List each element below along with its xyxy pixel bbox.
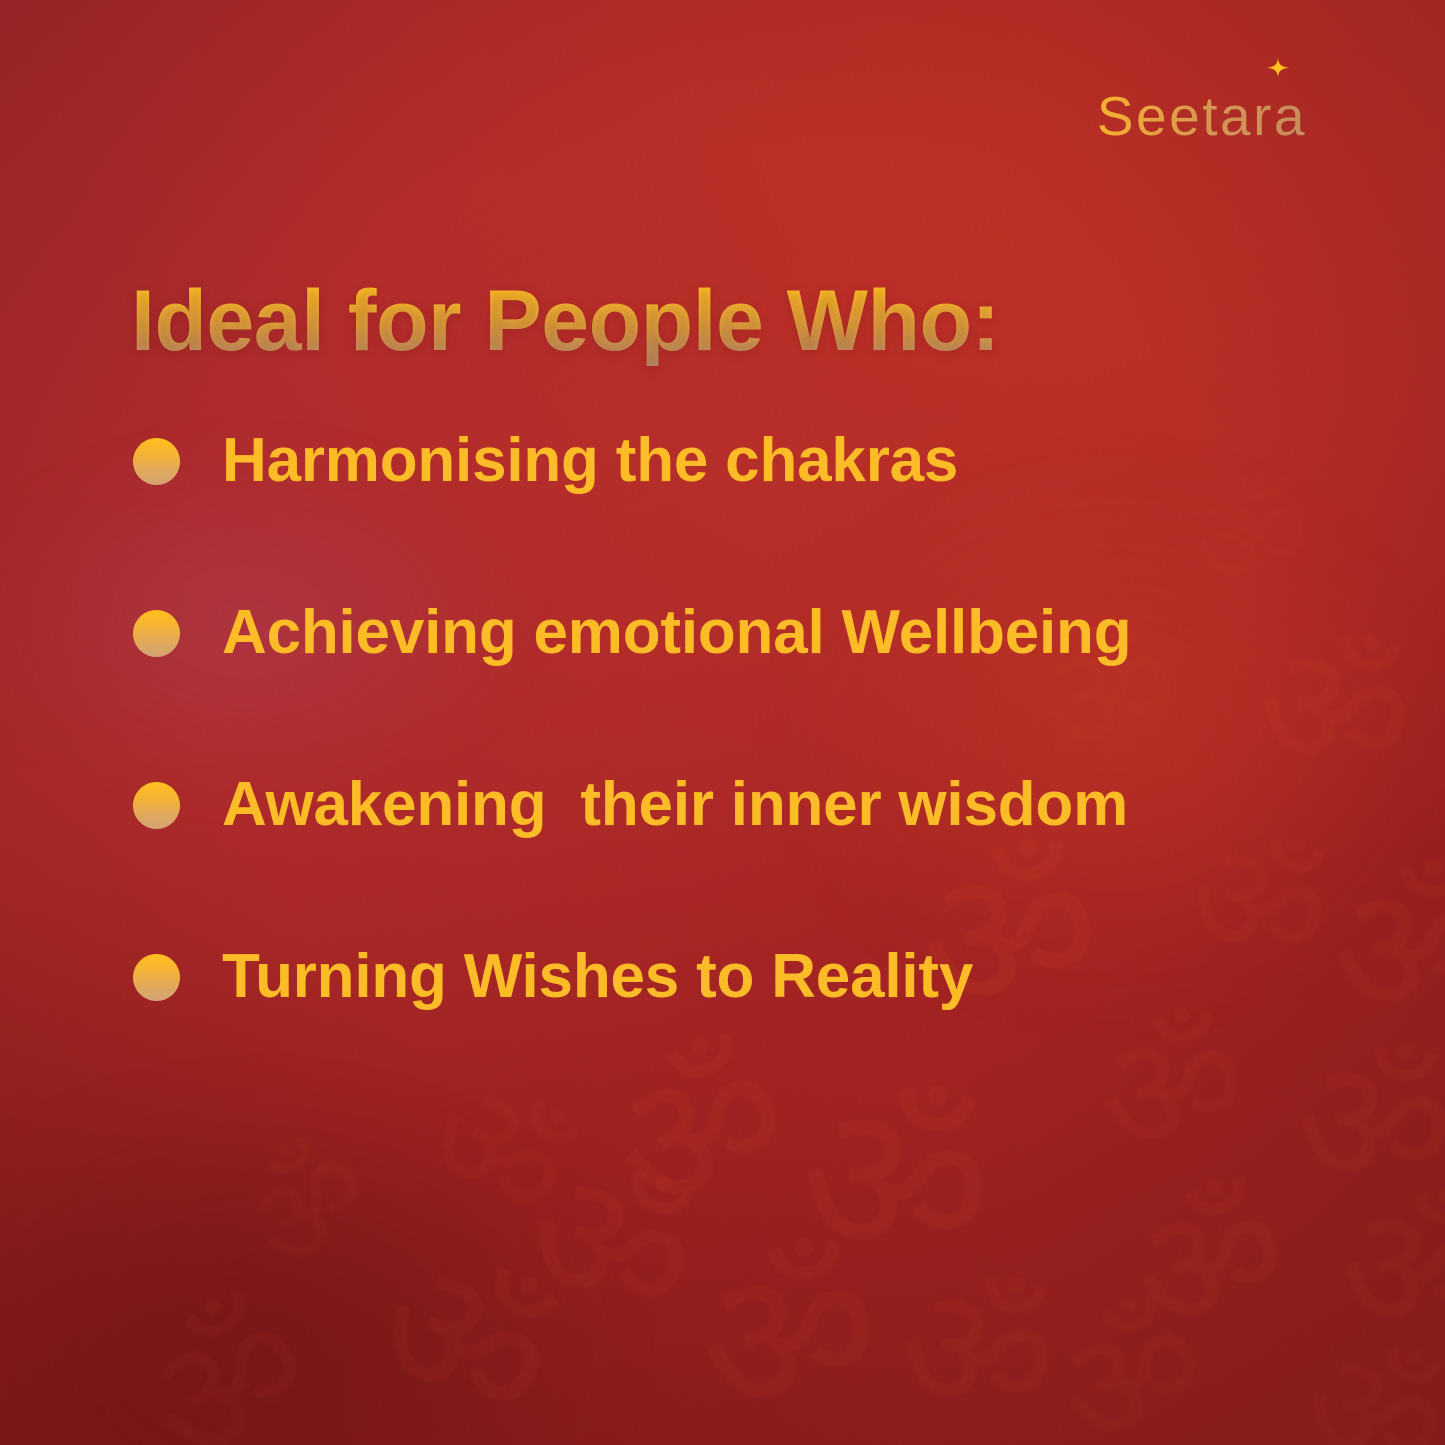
list-item: Turning Wishes to Reality — [133, 940, 1313, 1014]
brand-logo[interactable]: Seetara — [1055, 34, 1385, 120]
sparkle-star-icon — [1267, 58, 1289, 80]
list-item: Harmonising the chakras — [133, 424, 1313, 498]
bullet-dot-icon — [133, 610, 180, 657]
bullet-dot-icon — [133, 782, 180, 829]
list-item-label: Achieving emotional Wellbeing — [222, 602, 1131, 664]
list-item: Achieving emotional Wellbeing — [133, 596, 1313, 670]
list-item: Awakening their inner wisdom — [133, 768, 1313, 842]
list-item-label: Awakening their inner wisdom — [222, 774, 1128, 836]
list-item-label: Harmonising the chakras — [222, 430, 958, 492]
poster-canvas: ॐ ॐ ॐ ॐ ॐ ॐ ॐ ॐ ॐ ॐ ॐ ॐ ॐ ॐ ॐ ॐ ॐ ॐ ॐ ॐ … — [0, 0, 1445, 1445]
list-item-label: Turning Wishes to Reality — [222, 946, 973, 1008]
benefits-list: Harmonising the chakras Achieving emotio… — [133, 424, 1313, 1014]
brand-logo-text: Seetara — [1097, 84, 1307, 148]
page-title: Ideal for People Who: — [131, 276, 1000, 366]
bullet-dot-icon — [133, 438, 180, 485]
bullet-dot-icon — [133, 954, 180, 1001]
